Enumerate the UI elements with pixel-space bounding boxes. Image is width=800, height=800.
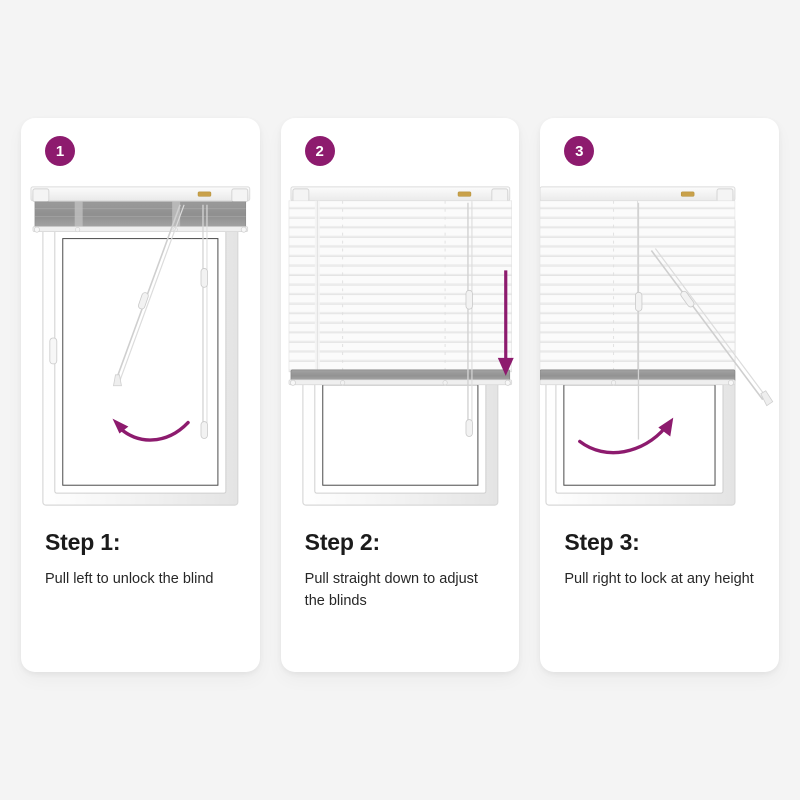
cord-toggle-2b: [466, 420, 472, 437]
brass-label-3: [682, 192, 695, 196]
cord-toggle-1c: [201, 422, 207, 439]
step-3-illustration: [540, 170, 779, 520]
step-1-title: Step 1:: [45, 530, 240, 555]
step-2-title: Step 2:: [305, 530, 500, 555]
brass-label-1: [198, 192, 211, 196]
step-2-caption: Step 2: Pull straight down to adjust the…: [305, 530, 500, 613]
cord-toggle-3a: [636, 292, 642, 311]
step-2-illustration: [281, 170, 520, 520]
blind-headrail-1: [31, 187, 250, 232]
step-number-badge-3: 3: [564, 136, 594, 166]
step-2-body: Pull straight down to adjust the blinds: [305, 569, 495, 613]
blind-bottom-rail-2: [289, 370, 512, 386]
window-frame-1: [43, 219, 238, 505]
window-handle-1: [50, 338, 57, 364]
blind-headrail-2: [291, 187, 510, 202]
step-number-badge-1: 1: [45, 136, 75, 166]
step-1-caption: Step 1: Pull left to unlock the blind: [45, 530, 240, 591]
step-card-1: 1: [21, 118, 260, 672]
step-3-title: Step 3:: [564, 530, 759, 555]
blind-headrail-3: [540, 187, 735, 202]
brass-label-2: [458, 192, 471, 196]
instruction-graphic: 1: [0, 0, 800, 800]
step-3-caption: Step 3: Pull right to lock at any height: [564, 530, 759, 591]
blind-bottom-rail-3: [540, 370, 735, 386]
cord-toggle-1b: [201, 268, 207, 287]
step-1-body: Pull left to unlock the blind: [45, 569, 235, 591]
step-number-badge-2: 2: [305, 136, 335, 166]
steps-container: 1: [21, 118, 779, 672]
cord-toggle-2a: [466, 290, 472, 309]
blind-slats-lowered-3: [540, 201, 735, 372]
step-3-body: Pull right to lock at any height: [564, 569, 754, 591]
blind-slats-lowered-2: [289, 201, 512, 372]
step-card-2: 2: [281, 118, 520, 672]
step-card-3: 3: [540, 118, 779, 672]
step-1-illustration: [21, 170, 260, 520]
